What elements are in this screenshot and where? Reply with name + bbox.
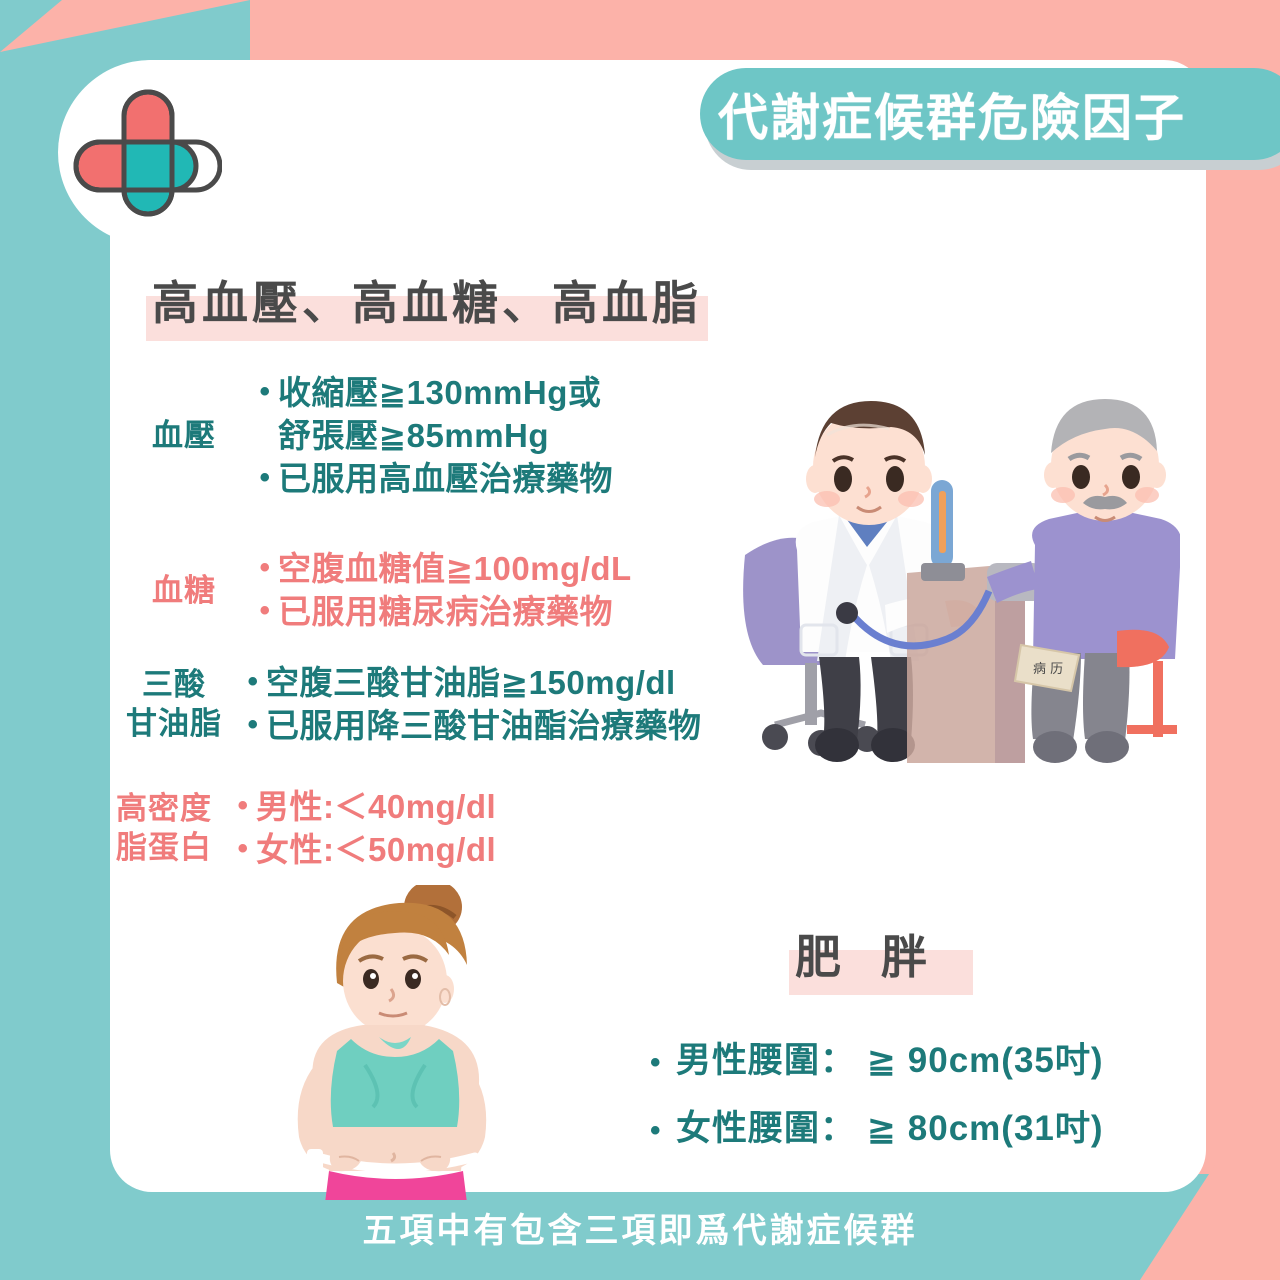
infographic-poster: 代謝症候群危險因子 高血壓、高血糖、高血脂 血壓 • 收縮壓≧130mmHg或 … — [0, 0, 1280, 1280]
obesity-criteria-list: • 男性腰圍： ≧ 90cm(35吋) • 女性腰圍： ≧ 80cm(31吋) — [650, 1038, 1104, 1173]
criteria-line-text: 舒張壓≧85mmHg — [278, 415, 549, 458]
criteria-row-triglycerides: 三酸 甘油脂 • 空腹三酸甘油脂≧150mg/dl • 已服用降三酸甘油酯治療藥… — [110, 662, 702, 748]
section-heading-lipids-label: 高血壓、高血糖、高血脂 — [152, 277, 702, 329]
criteria-line-text: 已服用高血壓治療藥物 — [278, 458, 613, 501]
bullet-icon: • — [230, 786, 256, 825]
medical-cross-icon — [72, 78, 222, 228]
criteria-line: • 女性:＜50mg/dl — [230, 829, 496, 872]
criteria-line: • 空腹三酸甘油脂≧150mg/dl — [240, 662, 702, 705]
bullet-icon: • — [240, 705, 266, 744]
criteria-items-blood-pressure: • 收縮壓≧130mmHg或 • 舒張壓≧85mmHg • 已服用高血壓治療藥物 — [252, 372, 613, 501]
bullet-icon: • — [650, 1111, 676, 1150]
obesity-line-text: 男性腰圍： ≧ 90cm(35吋) — [676, 1038, 1104, 1084]
obesity-line-text: 女性腰圍： ≧ 80cm(31吋) — [676, 1106, 1104, 1152]
woman-measuring-waist-illustration — [255, 885, 555, 1200]
criteria-line-text: 已服用糖尿病治療藥物 — [278, 591, 613, 634]
criteria-line-text: 空腹血糖值≧100mg/dL — [278, 548, 632, 591]
criteria-row-blood-pressure: 血壓 • 收縮壓≧130mmHg或 • 舒張壓≧85mmHg • 已服用高血壓治… — [118, 372, 613, 501]
bullet-icon: • — [230, 829, 256, 868]
section-heading-obesity-label: 肥胖 — [795, 931, 967, 983]
title-banner: 代謝症候群危險因子 — [700, 68, 1280, 160]
criteria-line: • 已服用高血壓治療藥物 — [252, 458, 613, 501]
criteria-line-text: 空腹三酸甘油脂≧150mg/dl — [266, 662, 676, 705]
criteria-line-text: 收縮壓≧130mmHg或 — [278, 372, 601, 415]
criteria-line-text: 男性:＜40mg/dl — [256, 786, 496, 829]
criteria-line: • 男性:＜40mg/dl — [230, 786, 496, 829]
section-heading-lipids: 高血壓、高血糖、高血脂 — [152, 278, 702, 329]
criteria-label-triglycerides: 三酸 甘油脂 — [110, 666, 238, 744]
bullet-icon: • — [252, 372, 278, 411]
criteria-line: • 空腹血糖值≧100mg/dL — [252, 548, 632, 591]
criteria-line: • 收縮壓≧130mmHg或 — [252, 372, 613, 415]
section-heading-obesity: 肥胖 — [795, 932, 967, 983]
page-title: 代謝症候群危險因子 — [718, 78, 1186, 150]
bullet-icon: • — [650, 1043, 676, 1082]
doctor-measuring-blood-pressure-illustration: 病 历 — [735, 395, 1180, 780]
svg-text:病 历: 病 历 — [1033, 662, 1063, 677]
criteria-row-blood-sugar: 血糖 • 空腹血糖值≧100mg/dL • 已服用糖尿病治療藥物 — [118, 548, 632, 634]
criteria-items-hdl: • 男性:＜40mg/dl • 女性:＜50mg/dl — [230, 786, 496, 872]
criteria-line-text: 已服用降三酸甘油酯治療藥物 — [266, 705, 702, 748]
criteria-label-blood-sugar: 血糖 — [118, 572, 250, 611]
bullet-icon: • — [252, 591, 278, 630]
obesity-line: • 男性腰圍： ≧ 90cm(35吋) — [650, 1038, 1104, 1084]
criteria-line: • 已服用糖尿病治療藥物 — [252, 591, 632, 634]
criteria-label-hdl: 高密度 脂蛋白 — [100, 790, 228, 868]
bullet-icon: • — [252, 548, 278, 587]
criteria-line: • 已服用降三酸甘油酯治療藥物 — [240, 705, 702, 748]
footer-bar: 五項中有包含三項即爲代謝症候群 — [0, 1174, 1280, 1280]
criteria-items-triglycerides: • 空腹三酸甘油脂≧150mg/dl • 已服用降三酸甘油酯治療藥物 — [240, 662, 702, 748]
obesity-line: • 女性腰圍： ≧ 80cm(31吋) — [650, 1106, 1104, 1152]
criteria-row-hdl: 高密度 脂蛋白 • 男性:＜40mg/dl • 女性:＜50mg/dl — [100, 786, 496, 872]
bullet-icon: • — [240, 662, 266, 701]
criteria-line-text: 女性:＜50mg/dl — [256, 829, 496, 872]
criteria-line: • 舒張壓≧85mmHg — [252, 415, 613, 458]
criteria-label-blood-pressure: 血壓 — [118, 417, 250, 456]
criteria-items-blood-sugar: • 空腹血糖值≧100mg/dL • 已服用糖尿病治療藥物 — [252, 548, 632, 634]
bullet-icon: • — [252, 458, 278, 497]
footer-text: 五項中有包含三項即爲代謝症候群 — [363, 1203, 918, 1252]
